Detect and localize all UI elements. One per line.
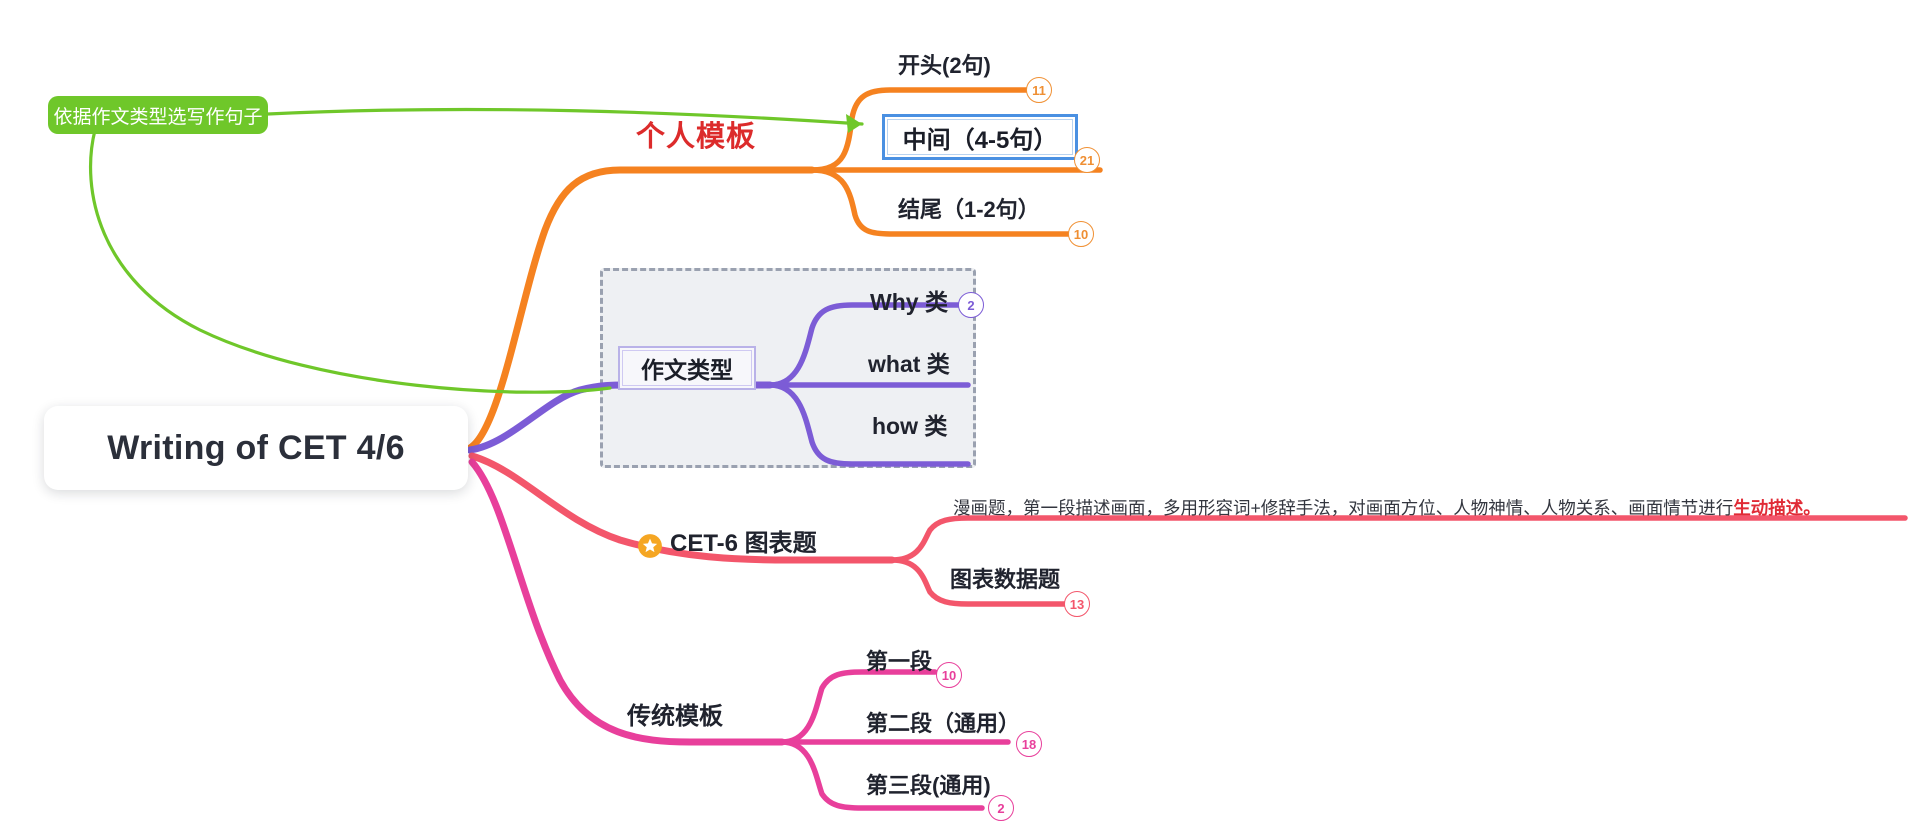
branch-label-personal-template-text: 个人模板 xyxy=(636,121,756,153)
badge-opening: 11 xyxy=(1026,77,1052,103)
branch-line-traditional-template xyxy=(472,462,1008,808)
badge-chart-data: 13 xyxy=(1064,591,1090,617)
branch-label-traditional-template[interactable]: 传统模板 xyxy=(627,704,723,730)
badge-paragraph-1: 10 xyxy=(936,662,962,688)
topic-comic-note-label: 漫画题，第一段描述画面，多用形容词+修辞手法，对画面方位、人物神情、人物关系、画… xyxy=(953,498,1733,518)
topic-what-type[interactable]: what 类 xyxy=(868,352,950,377)
topic-opening-label: 开头(2句) xyxy=(898,53,991,78)
badge-middle-value: 21 xyxy=(1080,154,1094,167)
mindmap-canvas: Writing of CET 4/6 依据作文类型选写作句子 个人模板 开头(2… xyxy=(0,0,1920,838)
badge-why-type: 2 xyxy=(958,292,984,318)
topic-ending[interactable]: 结尾（1-2句） xyxy=(898,198,1040,222)
badge-middle: 21 xyxy=(1074,147,1100,173)
topic-essay-type-label: 作文类型 xyxy=(641,351,733,385)
badge-paragraph-3: 2 xyxy=(988,795,1014,821)
badge-opening-value: 11 xyxy=(1032,84,1046,97)
badge-paragraph-3-value: 2 xyxy=(997,802,1004,815)
branch-label-personal-template[interactable]: 个人模板 xyxy=(636,122,756,154)
root-node[interactable]: Writing of CET 4/6 xyxy=(44,406,468,490)
branch-label-cet6-chart-text: CET-6 图表题 xyxy=(670,530,817,557)
topic-why-type[interactable]: Why 类 xyxy=(870,290,948,315)
topic-opening[interactable]: 开头(2句) xyxy=(898,54,991,78)
topic-how-type-label: how 类 xyxy=(872,413,947,439)
badge-paragraph-1-value: 10 xyxy=(942,669,956,682)
badge-chart-data-value: 13 xyxy=(1070,598,1084,611)
topic-what-type-label: what 类 xyxy=(868,351,950,377)
badge-ending-value: 10 xyxy=(1074,228,1088,241)
badge-why-type-value: 2 xyxy=(967,299,974,312)
topic-comic-note[interactable]: 漫画题，第一段描述画面，多用形容词+修辞手法，对画面方位、人物神情、人物关系、画… xyxy=(953,498,1821,519)
topic-paragraph-1[interactable]: 第一段 xyxy=(866,650,932,674)
floating-note-node[interactable]: 依据作文类型选写作句子 xyxy=(48,96,268,134)
star-icon xyxy=(637,533,663,559)
root-node-label: Writing of CET 4/6 xyxy=(107,429,405,468)
topic-comic-note-tail: 。 xyxy=(1803,498,1821,518)
floating-note-node-label: 依据作文类型选写作句子 xyxy=(54,102,263,129)
branch-label-cet6-chart[interactable]: CET-6 图表题 xyxy=(670,531,817,557)
badge-paragraph-2: 18 xyxy=(1016,731,1042,757)
topic-paragraph-2-label: 第二段（通用） xyxy=(866,711,1020,736)
topic-comic-note-highlight: 生动描述 xyxy=(1733,498,1803,518)
topic-chart-data[interactable]: 图表数据题 xyxy=(950,568,1060,592)
topic-essay-type[interactable]: 作文类型 xyxy=(618,346,756,390)
badge-ending: 10 xyxy=(1068,221,1094,247)
topic-middle-label: 中间（4-5句） xyxy=(903,120,1058,155)
topic-chart-data-label: 图表数据题 xyxy=(950,567,1060,592)
topic-paragraph-3[interactable]: 第三段(通用) xyxy=(866,774,991,798)
topic-paragraph-3-label: 第三段(通用) xyxy=(866,773,991,798)
branch-label-traditional-template-text: 传统模板 xyxy=(627,703,723,730)
topic-middle[interactable]: 中间（4-5句） xyxy=(882,114,1078,160)
topic-why-type-label: Why 类 xyxy=(870,289,948,315)
topic-paragraph-2[interactable]: 第二段（通用） xyxy=(866,712,1020,736)
topic-how-type[interactable]: how 类 xyxy=(872,414,947,439)
badge-paragraph-2-value: 18 xyxy=(1022,738,1036,751)
topic-paragraph-1-label: 第一段 xyxy=(866,649,932,674)
topic-ending-label: 结尾（1-2句） xyxy=(898,197,1040,222)
